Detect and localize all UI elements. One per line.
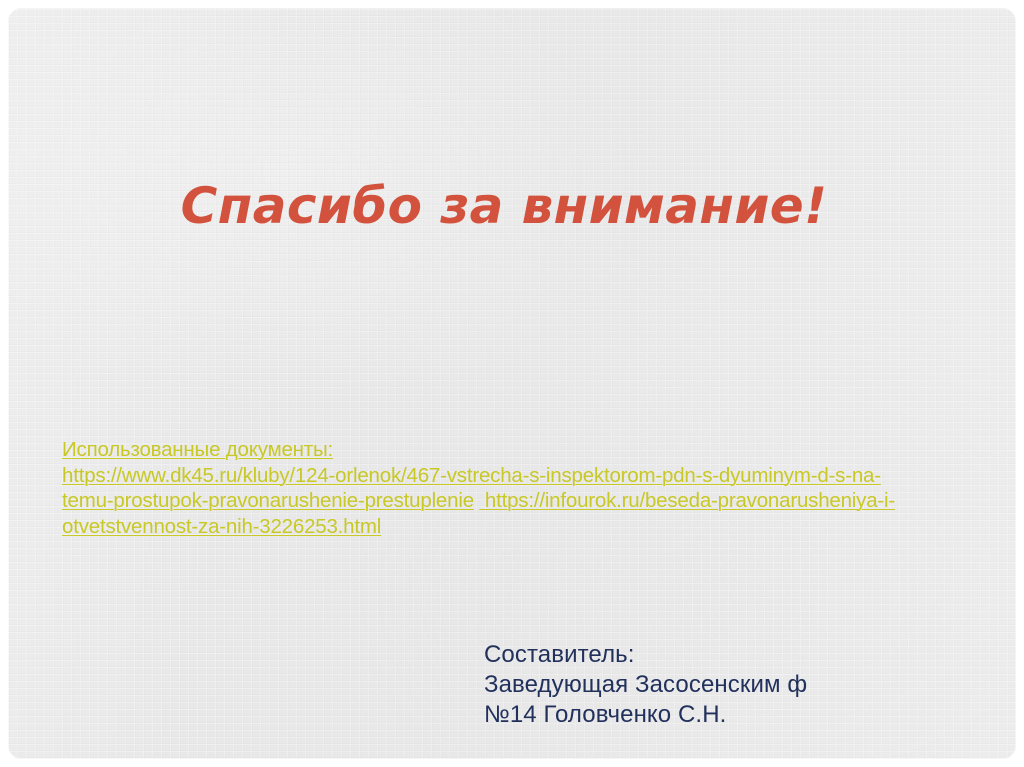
author-position: Заведующая Засосенским ф bbox=[484, 670, 954, 700]
author-credit-block: Составитель: Заведующая Засосенским ф №1… bbox=[484, 640, 954, 730]
author-label: Составитель: bbox=[484, 640, 954, 670]
references-links: https://www.dk45.ru/kluby/124-orlenok/46… bbox=[62, 463, 930, 540]
author-name: №14 Головченко С.Н. bbox=[484, 700, 954, 730]
references-heading: Использованные документы: bbox=[62, 437, 930, 463]
presentation-slide: Спасибо за внимание! Использованные доку… bbox=[0, 0, 1024, 767]
references-block: Использованные документы: https://www.dk… bbox=[62, 437, 930, 539]
slide-title-block: Спасибо за внимание! bbox=[60, 178, 948, 235]
page-title: Спасибо за внимание! bbox=[181, 178, 828, 235]
